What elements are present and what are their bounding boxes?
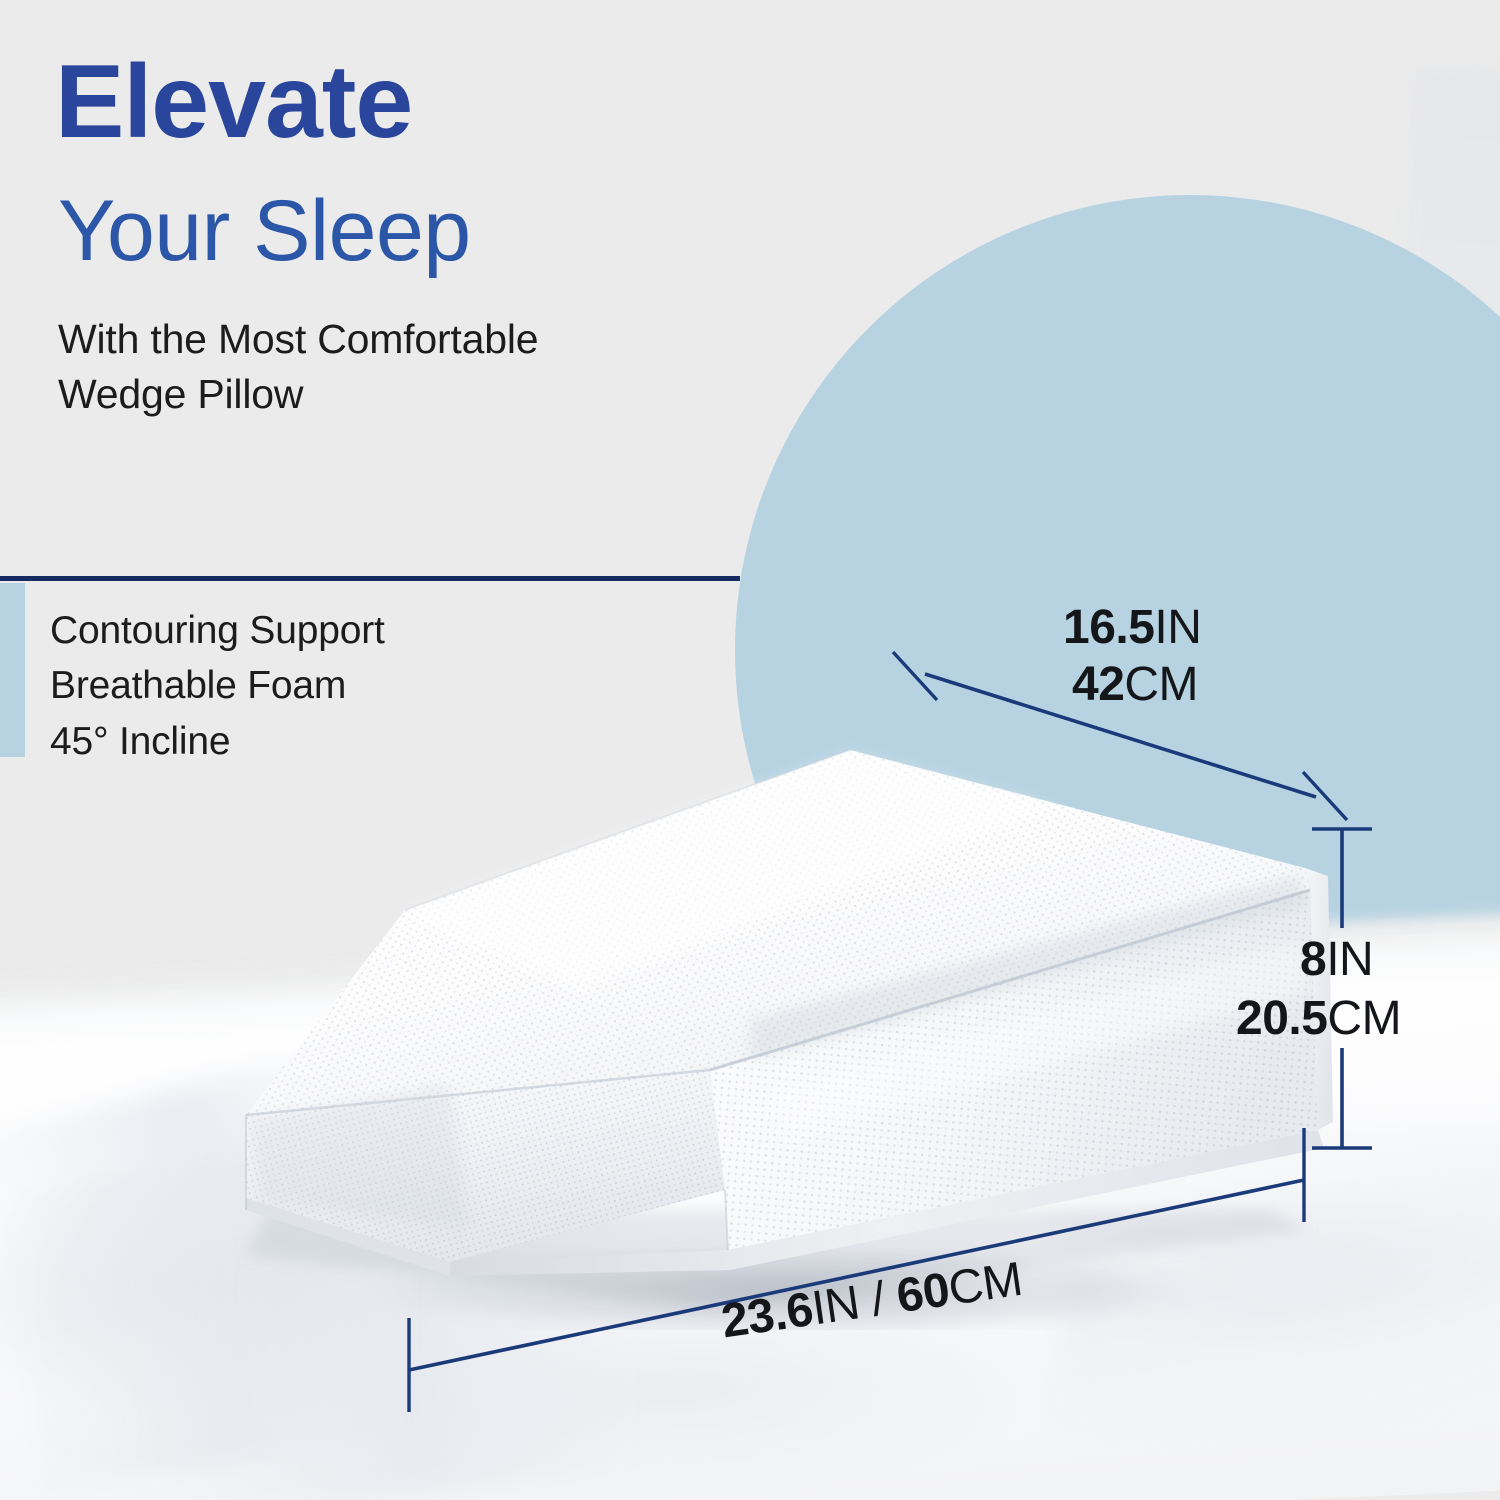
depth-metric-unit: CM bbox=[1124, 658, 1198, 711]
dimension-label-depth-imperial: 16.5IN bbox=[1063, 600, 1201, 655]
list-item: Breathable Foam bbox=[50, 658, 385, 713]
page-description: With the Most Comfortable Wedge Pillow bbox=[58, 312, 538, 422]
dimension-label-depth-metric: 42CM bbox=[1072, 657, 1198, 712]
dimension-label-height-metric: 20.5CM bbox=[1236, 991, 1401, 1046]
dimension-label-height-imperial: 8IN bbox=[1300, 932, 1373, 987]
depth-metric-value: 42 bbox=[1072, 658, 1124, 711]
height-metric-unit: CM bbox=[1327, 992, 1401, 1045]
divider-rule bbox=[0, 576, 740, 581]
list-item: 45° Incline bbox=[50, 714, 385, 769]
page-title: Elevate bbox=[55, 52, 412, 154]
wedge-pillow-image bbox=[150, 690, 1370, 1330]
description-line-2: Wedge Pillow bbox=[58, 367, 538, 422]
depth-imperial-unit: IN bbox=[1154, 601, 1201, 654]
width-imperial-unit: IN bbox=[809, 1276, 863, 1335]
width-metric-value: 60 bbox=[893, 1263, 952, 1323]
description-line-1: With the Most Comfortable bbox=[58, 312, 538, 367]
height-metric-value: 20.5 bbox=[1236, 992, 1327, 1045]
width-metric-unit: CM bbox=[945, 1253, 1025, 1316]
accent-bar bbox=[0, 583, 25, 757]
height-imperial-value: 8 bbox=[1300, 933, 1326, 986]
infographic-canvas: Elevate Your Sleep With the Most Comfort… bbox=[0, 0, 1500, 1500]
list-item: Contouring Support bbox=[50, 603, 385, 658]
height-imperial-unit: IN bbox=[1326, 933, 1373, 986]
depth-imperial-value: 16.5 bbox=[1063, 601, 1154, 654]
feature-list: Contouring Support Breathable Foam 45° I… bbox=[50, 603, 385, 769]
page-subtitle: Your Sleep bbox=[58, 188, 471, 274]
